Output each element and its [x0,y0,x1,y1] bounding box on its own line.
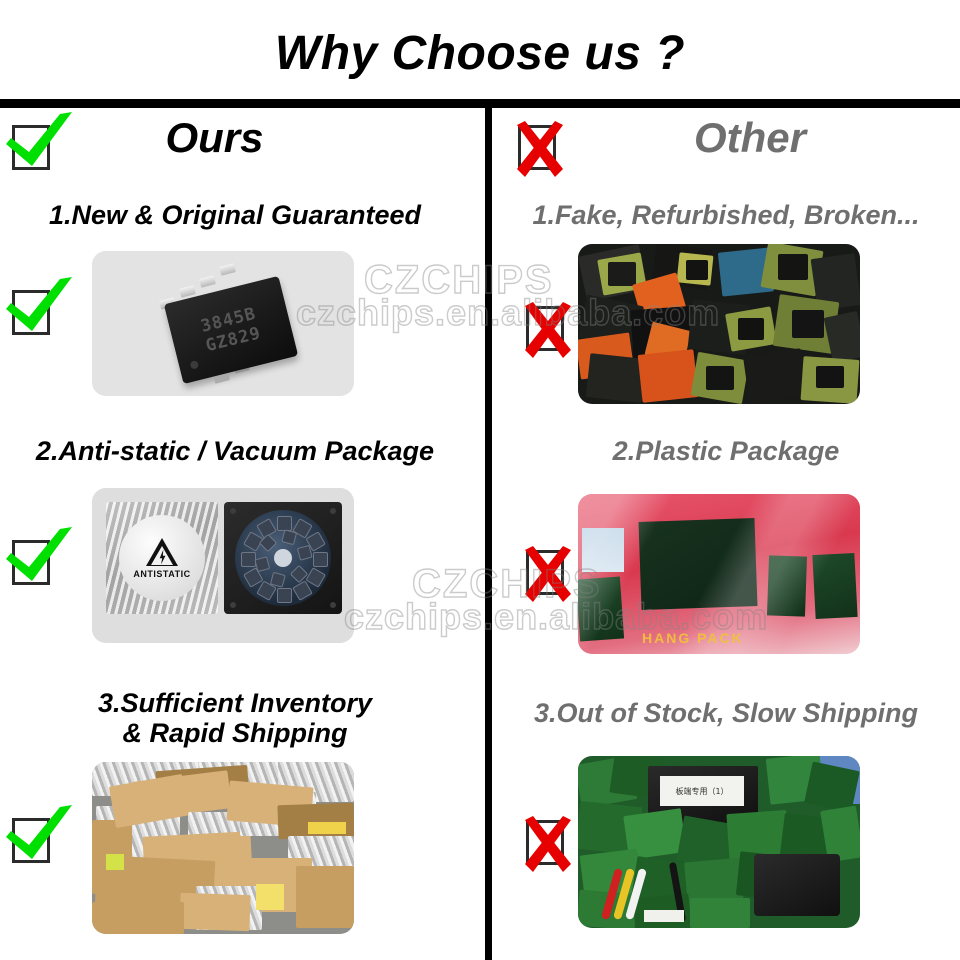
high-voltage-triangle-icon [146,538,178,566]
watermark-brand-1: CZCHIPS [364,258,554,303]
pack-brand-text: HANG PACK [642,630,744,646]
scrap-chips-pile-photo [578,244,860,404]
column-label-ours: Ours [0,114,457,162]
row2-heading-other: 2.Plastic Package [492,436,960,466]
antistatic-photo-background: ANTISTATIC [92,488,354,643]
cross-icon-glyph [517,300,579,362]
plastic-package-photo: HANG PACK [578,494,860,654]
row2-heading-ours: 2.Anti-static / Vacuum Package [0,436,470,466]
scrap-pile-background [578,244,860,404]
row1-heading-other: 1.Fake, Refurbished, Broken... [492,200,960,230]
row2-cross-icon [526,550,564,595]
plastic-bag-background: HANG PACK [578,494,860,654]
row1-cross-icon [526,306,564,351]
row3-heading-other: 3.Out of Stock, Slow Shipping [492,698,960,728]
check-icon-glyph [2,525,76,587]
row1-check-icon [12,290,50,335]
column-divider [485,107,492,960]
column-label-other: Other [516,114,960,162]
row3-heading-ours-line2: & Rapid Shipping [0,718,470,748]
lightning-bolt-icon [159,550,166,565]
check-icon-glyph [2,803,76,865]
header-divider [0,99,960,108]
row3-check-icon [12,818,50,863]
column-header-ours: Ours [0,108,485,182]
check-icon-glyph [2,275,76,337]
page-title: Why Choose us ? [0,26,960,81]
why-choose-us-infographic: Why Choose us ? Ours Other 1.New & Origi… [0,0,960,960]
chip-photo-background: 3845B GZ829 [92,251,354,396]
column-header-other: Other [492,108,960,182]
scrap-pcb-background: 板端专用（1） [578,756,860,928]
row3-heading-ours: 3.Sufficient Inventory & Rapid Shipping [0,688,470,748]
row1-heading-ours: 1.New & Original Guaranteed [0,200,470,230]
row3-heading-ours-line1: 3.Sufficient Inventory [0,688,470,718]
row3-cross-icon [526,820,564,865]
row2-check-icon [12,540,50,585]
component-reel [235,510,331,606]
scrap-module-label: 板端专用（1） [660,776,744,806]
cross-icon-glyph [517,544,579,606]
antistatic-vacuum-package-photo: ANTISTATIC [92,488,354,643]
antistatic-bag: ANTISTATIC [106,502,218,614]
inventory-boxes-photo [92,762,354,934]
reel-hub [274,549,292,567]
inventory-photo-background [92,762,354,934]
antistatic-label: ANTISTATIC [119,515,205,601]
new-original-chip-photo: 3845B GZ829 [92,251,354,396]
cross-icon-glyph [517,814,579,876]
component-reel-tray [224,502,342,614]
scrap-pcb-pile-photo: 板端专用（1） [578,756,860,928]
antistatic-label-text: ANTISTATIC [133,569,190,579]
